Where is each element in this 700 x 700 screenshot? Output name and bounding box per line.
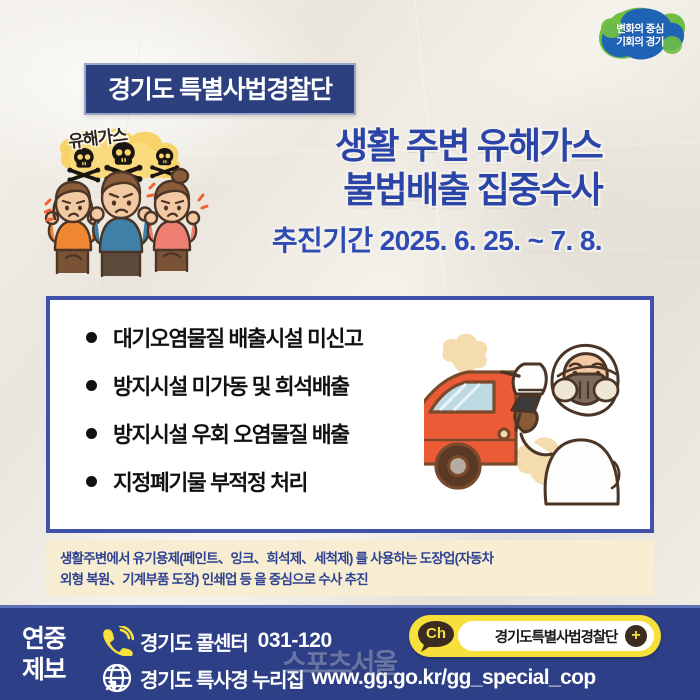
violation-text: 방지시설 우회 오염물질 배출 bbox=[113, 418, 349, 449]
worker-figure bbox=[502, 345, 619, 504]
call-center-label: 경기도 콜센터 bbox=[140, 627, 248, 656]
car-shape bbox=[424, 372, 516, 488]
kakao-channel-icon: Ch bbox=[416, 619, 456, 653]
bullet-dot-icon bbox=[86, 476, 97, 487]
website-url[interactable]: www.gg.go.kr/gg_special_cop bbox=[312, 666, 596, 690]
person-left bbox=[46, 182, 100, 273]
website-label: 경기도 특사경 누리집 bbox=[140, 664, 304, 693]
violations-card: 대기오염물질 배출시설 미신고 방지시설 미가동 및 희석배출 방지시설 우회 … bbox=[46, 296, 654, 533]
kakao-ch-mark: Ch bbox=[416, 625, 456, 642]
phone-ringing-icon bbox=[100, 626, 134, 656]
list-item: 대기오염물질 배출시설 미신고 bbox=[86, 322, 456, 353]
bullet-dot-icon bbox=[86, 380, 97, 391]
kakao-channel-pill[interactable]: 경기도특별사법경찰단 + bbox=[458, 621, 654, 651]
title-line-2: 불법배출 집중수사 bbox=[196, 168, 602, 212]
kakao-channel-button[interactable]: Ch 경기도특별사법경찰단 + bbox=[409, 615, 661, 657]
report-label: 연중 제보 bbox=[22, 624, 65, 686]
website-row[interactable]: 경기도 특사경 누리집 www.gg.go.kr/gg_special_cop bbox=[100, 663, 596, 693]
violation-text: 지정폐기물 부적정 처리 bbox=[113, 466, 307, 497]
call-center-number: 031-120 bbox=[258, 629, 332, 653]
scope-note: 생활주변에서 유기용제(페인트、잉크、희석제、세척제) 를 사용하는 도장업(자… bbox=[46, 540, 654, 596]
globe-icon bbox=[100, 663, 134, 693]
bullet-dot-icon bbox=[86, 428, 97, 439]
person-center bbox=[91, 172, 152, 276]
list-item: 방지시설 미가동 및 희석배출 bbox=[86, 370, 456, 401]
title-line-1: 생활 주변 유해가스 bbox=[196, 124, 602, 168]
campaign-period: 추진기간 2025. 6. 25. ~ 7. 8. bbox=[196, 219, 602, 259]
kakao-add-channel-icon[interactable]: + bbox=[625, 625, 647, 647]
list-item: 방지시설 우회 오염물질 배출 bbox=[86, 418, 456, 449]
note-line-2: 외형 복원、기계부품 도장) 인쇄업 등 을 중심으로 수사 추진 bbox=[60, 569, 642, 590]
poster-root: 변화의 중심 기회의 경기 경기도 특별사법경찰단 bbox=[0, 0, 700, 700]
kakao-channel-name: 경기도특별사법경찰단 bbox=[495, 626, 617, 647]
list-item: 지정폐기물 부적정 처리 bbox=[86, 466, 456, 497]
call-center-row[interactable]: 경기도 콜센터 031-120 bbox=[100, 626, 332, 656]
note-line-1: 생활주변에서 유기용제(페인트、잉크、희석제、세척제) 를 사용하는 도장업(자… bbox=[60, 548, 642, 569]
violation-list: 대기오염물질 배출시설 미신고 방지시설 미가동 및 희석배출 방지시설 우회 … bbox=[86, 322, 456, 497]
spray-painter-illustration bbox=[424, 314, 644, 524]
violation-text: 대기오염물질 배출시설 미신고 bbox=[113, 322, 363, 353]
gyeonggi-brand-logo: 변화의 중심 기회의 경기 bbox=[592, 6, 688, 68]
brand-logo-text: 변화의 중심 기회의 경기 bbox=[592, 23, 688, 48]
bullet-dot-icon bbox=[86, 332, 97, 343]
hero-title-block: 생활 주변 유해가스 불법배출 집중수사 추진기간 2025. 6. 25. ~… bbox=[196, 124, 602, 259]
violation-text: 방지시설 미가동 및 희석배출 bbox=[113, 370, 349, 401]
